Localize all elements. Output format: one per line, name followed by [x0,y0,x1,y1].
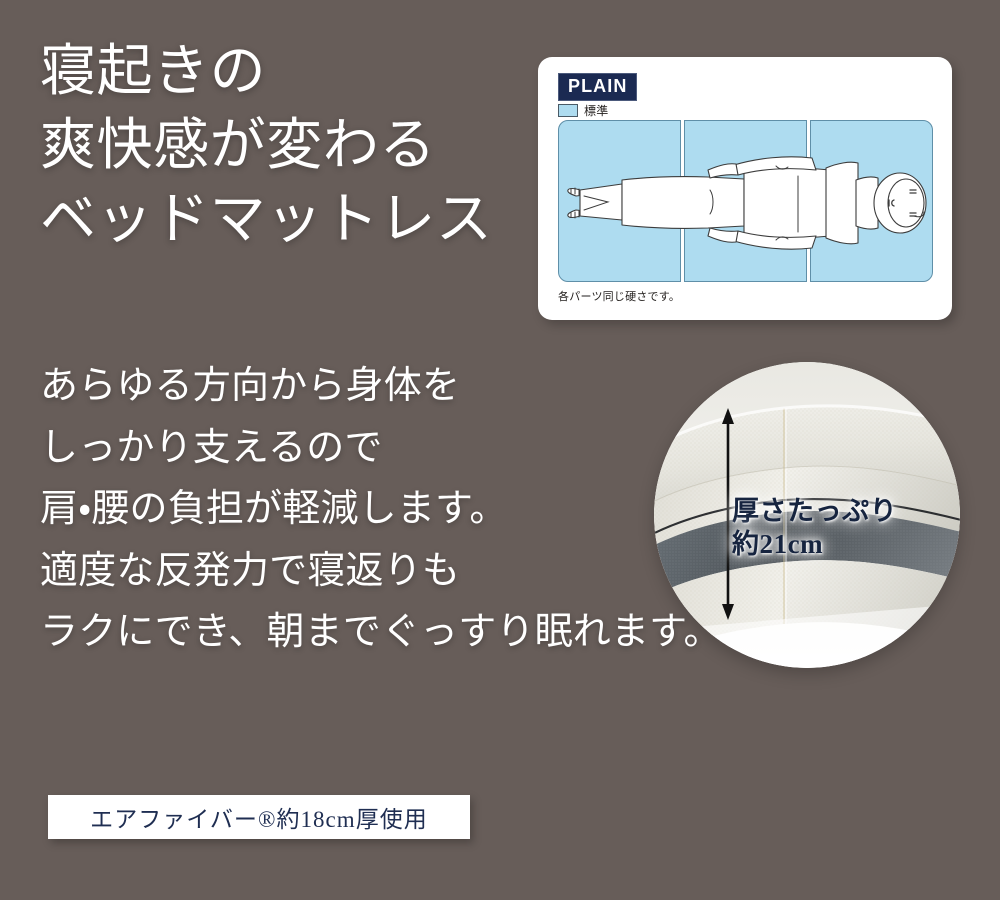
legend: 標準 [558,102,608,119]
legend-swatch-icon [558,104,578,117]
body-copy-line-3: 肩・腰の負担が軽減します。 [40,479,660,541]
promo-stage: 寝起きの 爽快感が変わる ベッドマットレス あらゆる方向から身体を しっかり支え… [0,0,1000,900]
legend-label: 標準 [584,102,608,119]
body-copy-line-5: ラクにでき、朝までぐっすり眠れます。 [40,602,660,664]
body-copy-line-2: しっかり支えるので [40,418,660,480]
mattress-photo-circle [654,362,960,668]
body-copy-line-4: 適度な反発力で寝返りも [40,541,660,603]
mattress-corner-photo [654,362,960,668]
card-caption: 各パーツ同じ硬さです。 [558,288,680,304]
headline-line-2: 爽快感が変わる [40,110,540,184]
headline-line-1: 寝起きの [40,36,540,110]
headline-line-3: ベッドマットレス [40,184,540,258]
plain-card: PLAIN 標準 [538,57,952,320]
airfiber-badge-label: エアファイバー®約18cm厚使用 [90,800,428,834]
body-copy-line-1: あらゆる方向から身体を [40,356,660,418]
person-lying-illustration [558,120,933,282]
body-copy: あらゆる方向から身体を しっかり支えるので 肩・腰の負担が軽減します。 適度な反… [40,356,660,664]
mattress-diagram [558,120,933,282]
plain-badge: PLAIN [558,73,637,101]
airfiber-badge: エアファイバー®約18cm厚使用 [48,795,470,839]
page-title: 寝起きの 爽快感が変わる ベッドマットレス [40,36,540,258]
